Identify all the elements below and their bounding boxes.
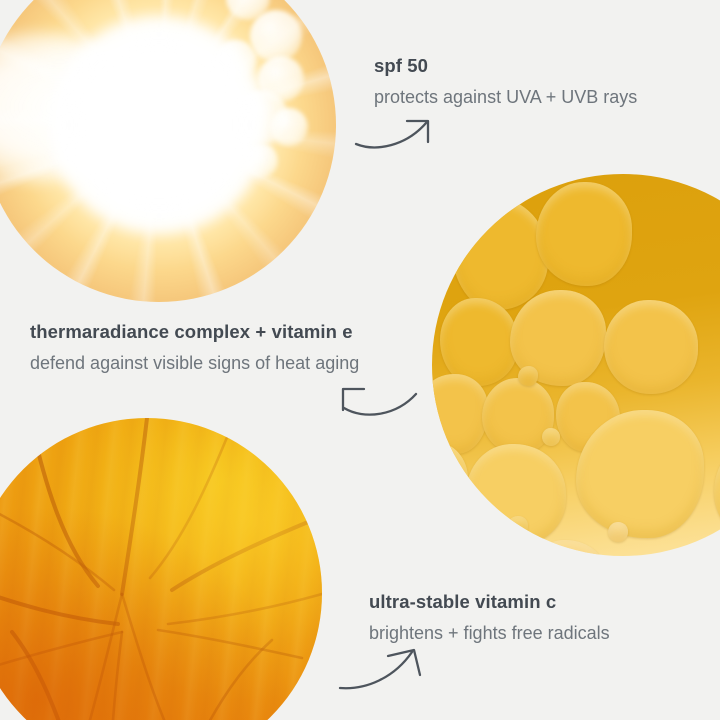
sun-burst-image [0,0,336,302]
sun-core-glow [51,17,267,233]
oil-bubble [518,366,538,386]
callout-thermaradiance: thermaradiance complex + vitamin e defen… [30,320,359,375]
oil-bubbles-image [432,174,720,556]
oil-bubble [432,442,468,526]
oil-bubble [608,522,628,542]
citrus-shading-overlay [0,418,322,720]
oil-bubble [542,428,560,446]
arrow-to-sun-icon [352,112,438,152]
oil-bubble [440,298,518,386]
citrus-macro-image [0,418,322,720]
callout-thermaradiance-headline: thermaradiance complex + vitamin e [30,320,359,343]
arrow-to-oil-icon [334,382,420,422]
oil-bubble [604,300,698,394]
arrow-to-citrus-icon [336,640,428,696]
callout-spf: spf 50 protects against UVA + UVB rays [374,54,637,109]
oil-bubble [452,198,548,310]
callout-spf-headline: spf 50 [374,54,637,77]
infographic-canvas: spf 50 protects against UVA + UVB rays t… [0,0,720,720]
oil-bubble [536,182,632,286]
callout-vitamin-c-headline: ultra-stable vitamin c [369,590,610,613]
callout-spf-subline: protects against UVA + UVB rays [374,86,637,109]
bokeh-spot [270,108,308,146]
callout-vitamin-c-subline: brightens + fights free radicals [369,622,610,645]
oil-bubble [714,434,720,548]
callout-vitamin-c: ultra-stable vitamin c brightens + fight… [369,590,610,645]
bokeh-spot [250,10,302,62]
oil-bubble [528,540,608,556]
callout-thermaradiance-subline: defend against visible signs of heat agi… [30,352,359,375]
oil-bubble [506,516,528,538]
